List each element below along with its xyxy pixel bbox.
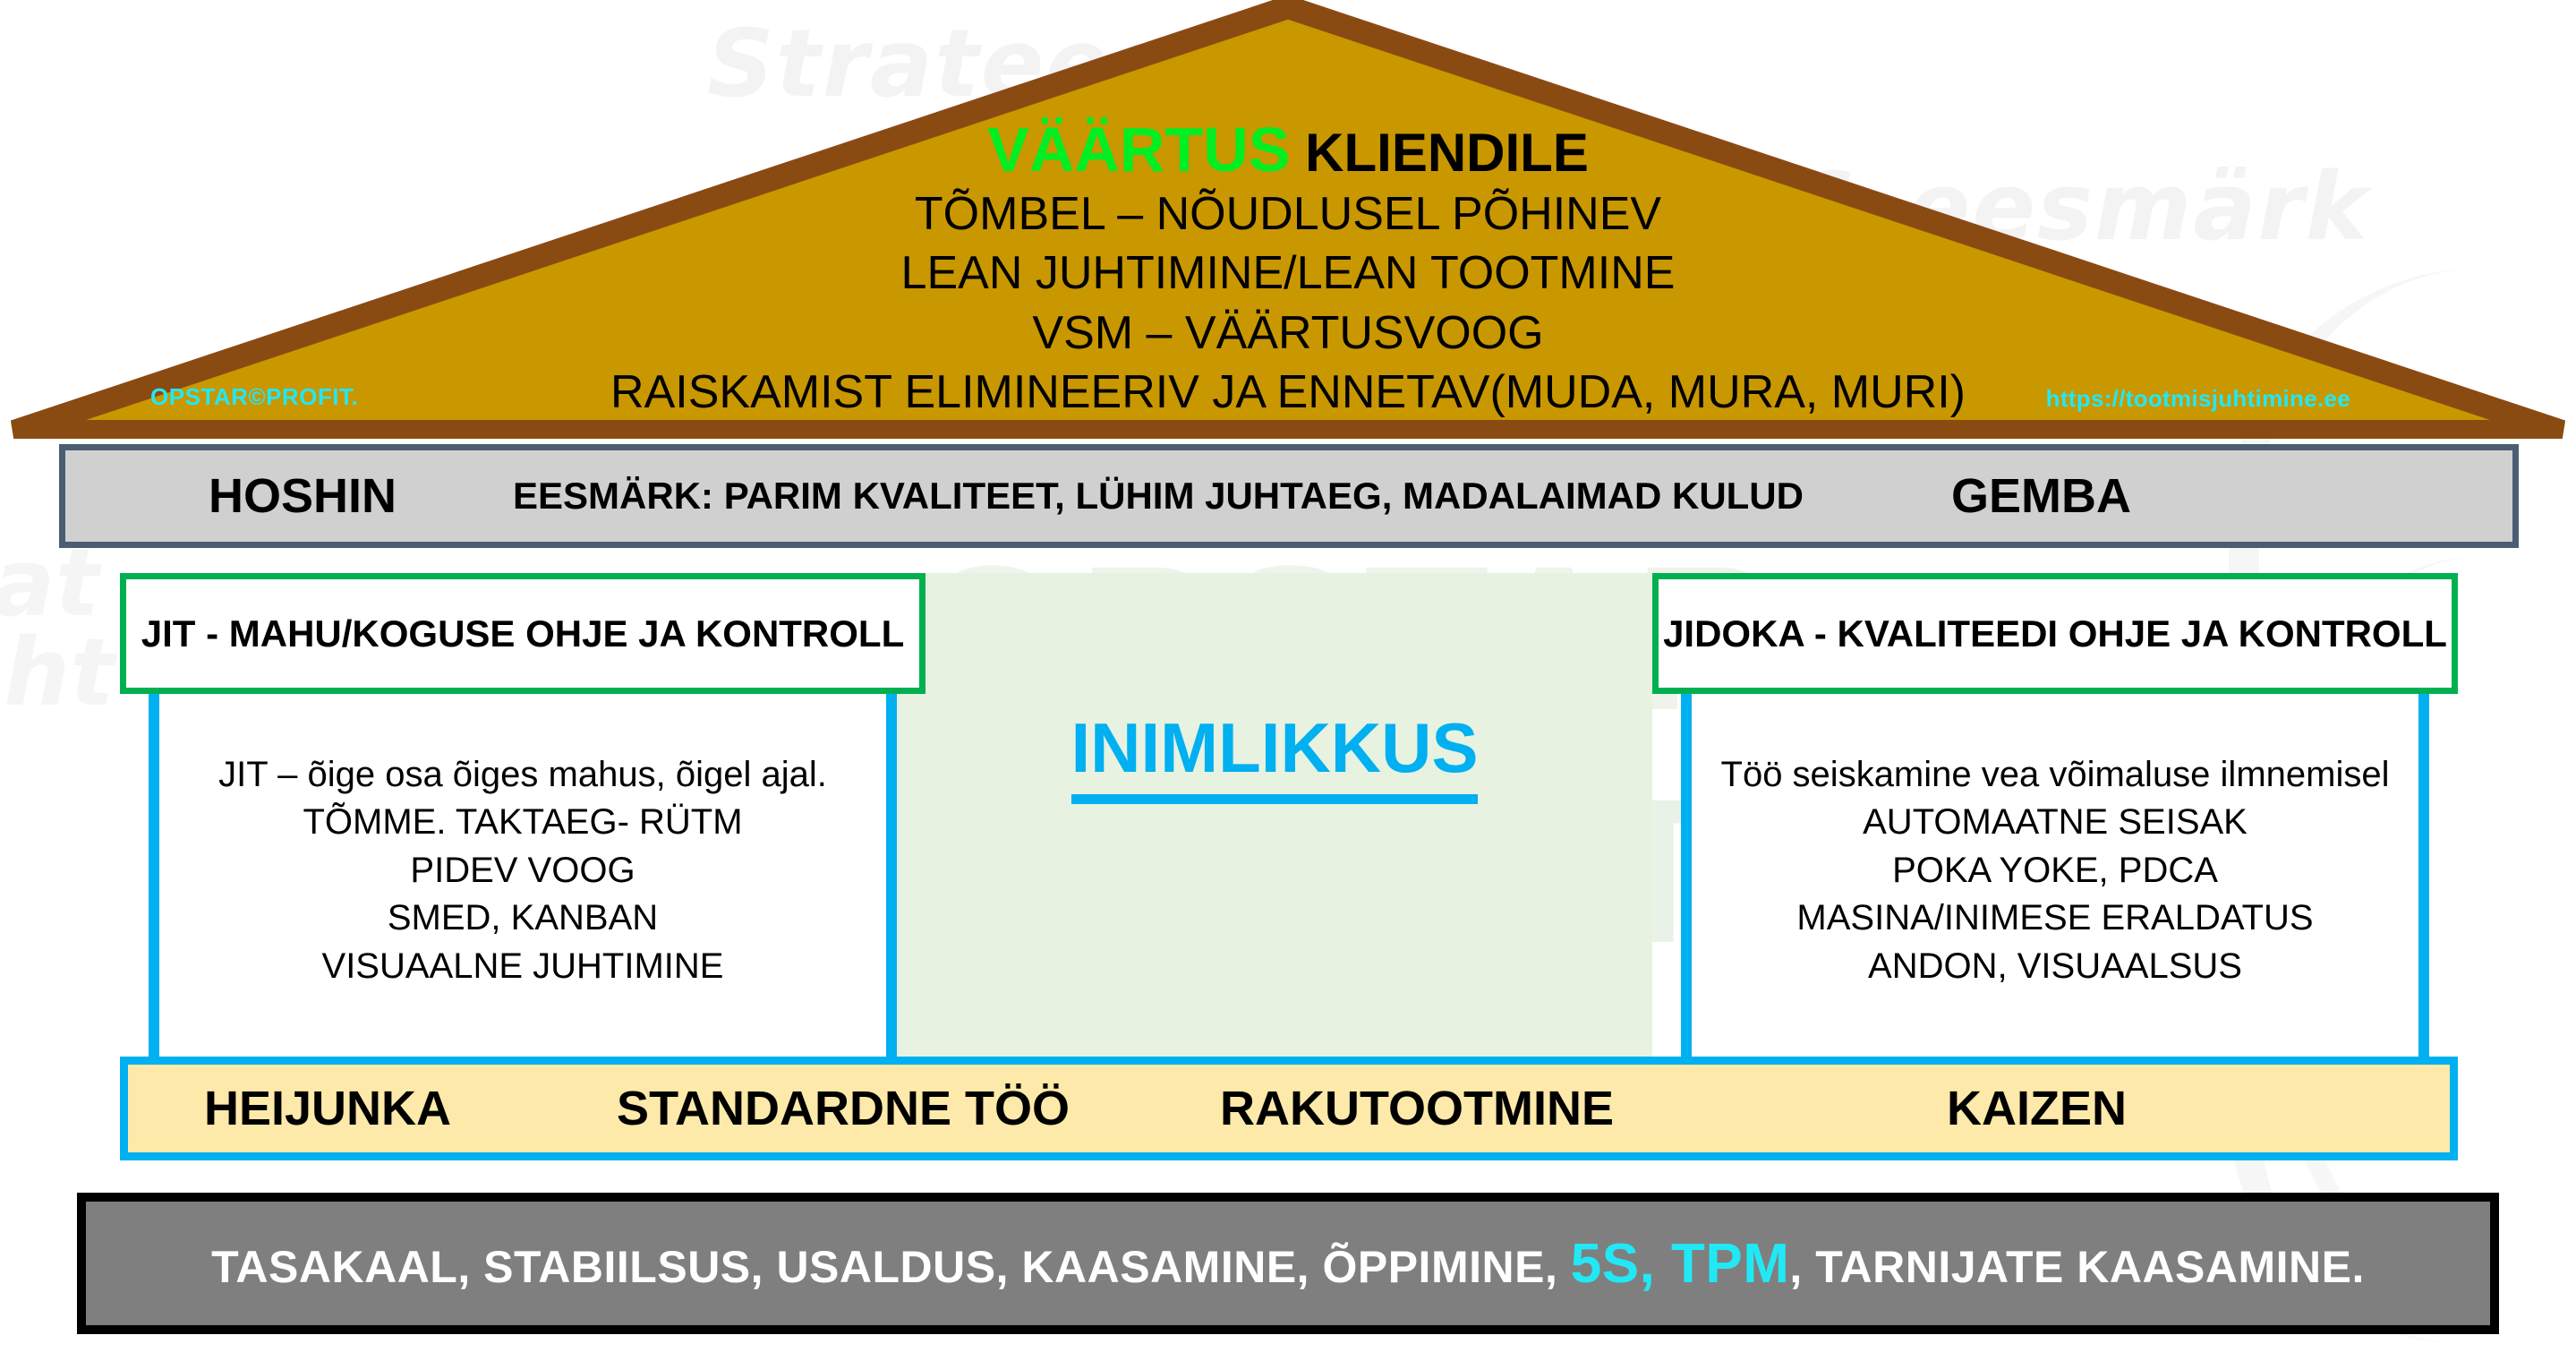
pillar-jidoka-line-5: ANDON, VISUAALSUS	[1868, 943, 2242, 991]
inimlikkus-title: INIMLIKKUS	[1071, 707, 1479, 804]
pillar-jidoka-header: JIDOKA - KVALITEEDI OHJE JA KONTROLL	[1652, 573, 2458, 694]
method-rakutootmine: RAKUTOOTMINE	[1220, 1081, 1614, 1136]
pillar-jidoka-line-2: AUTOMAATNE SEISAK	[1863, 799, 2248, 847]
watermark-left-lower: uht	[0, 618, 115, 727]
pillar-jit-line-4: SMED, KANBAN	[388, 894, 658, 943]
pillar-jit-line-1: JIT – õige osa õiges mahus, õigel ajal.	[218, 751, 827, 800]
goal-bar: HOSHIN EESMÄRK: PARIM KVALITEET, LÜHIM J…	[59, 444, 2519, 548]
pillar-jit-header: JIT - MAHU/KOGUSE OHJE JA KONTROLL	[120, 573, 925, 694]
center-panel: INIMLIKKUS	[897, 573, 1652, 1057]
gemba-label: GEMBA	[1951, 468, 2131, 524]
goal-statement: EESMÄRK: PARIM KVALITEET, LÜHIM JUHTAEG,…	[513, 475, 1804, 518]
foundation-text: TASAKAAL, STABIILSUS, USALDUS, KAASAMINE…	[211, 1232, 2365, 1296]
methods-bar: HEIJUNKA STANDARDNE TÖÖ RAKUTOOTMINE KAI…	[120, 1057, 2458, 1160]
roof-copyright-label: OPSTAR©PROFIT.	[150, 383, 358, 411]
pillar-jit-line-2: TÕMME. TAKTAEG- RÜTM	[303, 799, 742, 847]
pillar-jit-line-5: VISUAALNE JUHTIMINE	[322, 943, 724, 991]
method-heijunka: HEIJUNKA	[204, 1081, 451, 1136]
pillar-jidoka-line-3: POKA YOKE, PDCA	[1892, 847, 2218, 895]
lean-house-diagram: Strateegia & eesmärk rat uht OPSTAR PROF…	[0, 0, 2576, 1361]
foundation-bar: TASAKAAL, STABIILSUS, USALDUS, KAASAMINE…	[77, 1193, 2499, 1334]
foundation-suffix: , TARNIJATE KAASAMINE.	[1789, 1242, 2365, 1292]
pillar-jit-header-label: JIT - MAHU/KOGUSE OHJE JA KONTROLL	[141, 612, 905, 655]
pillar-jit-body: JIT – õige osa õiges mahus, õigel ajal. …	[149, 694, 897, 1057]
pillar-jidoka-header-label: JIDOKA - KVALITEEDI OHJE JA KONTROLL	[1663, 612, 2447, 655]
pillar-jit-line-3: PIDEV VOOG	[410, 847, 635, 895]
method-kaizen: KAIZEN	[1947, 1081, 2127, 1136]
pillar-jidoka-line-1: Töö seiskamine vea võimaluse ilmnemisel	[1721, 751, 2390, 800]
pillar-jidoka-body: Töö seiskamine vea võimaluse ilmnemisel …	[1681, 694, 2429, 1057]
hoshin-label: HOSHIN	[209, 468, 397, 524]
method-standardne-too: STANDARDNE TÖÖ	[617, 1081, 1070, 1136]
foundation-prefix: TASAKAAL, STABIILSUS, USALDUS, KAASAMINE…	[211, 1242, 1571, 1292]
roof-shape: VÄÄRTUS KLIENDILE TÕMBEL – NÕUDLUSEL PÕH…	[0, 0, 2576, 439]
pillar-jidoka-line-4: MASINA/INIMESE ERALDATUS	[1796, 894, 2313, 943]
roof-website-link[interactable]: https://tootmisjuhtimine.ee	[2046, 385, 2350, 413]
foundation-highlight: 5S, TPM	[1571, 1233, 1790, 1295]
